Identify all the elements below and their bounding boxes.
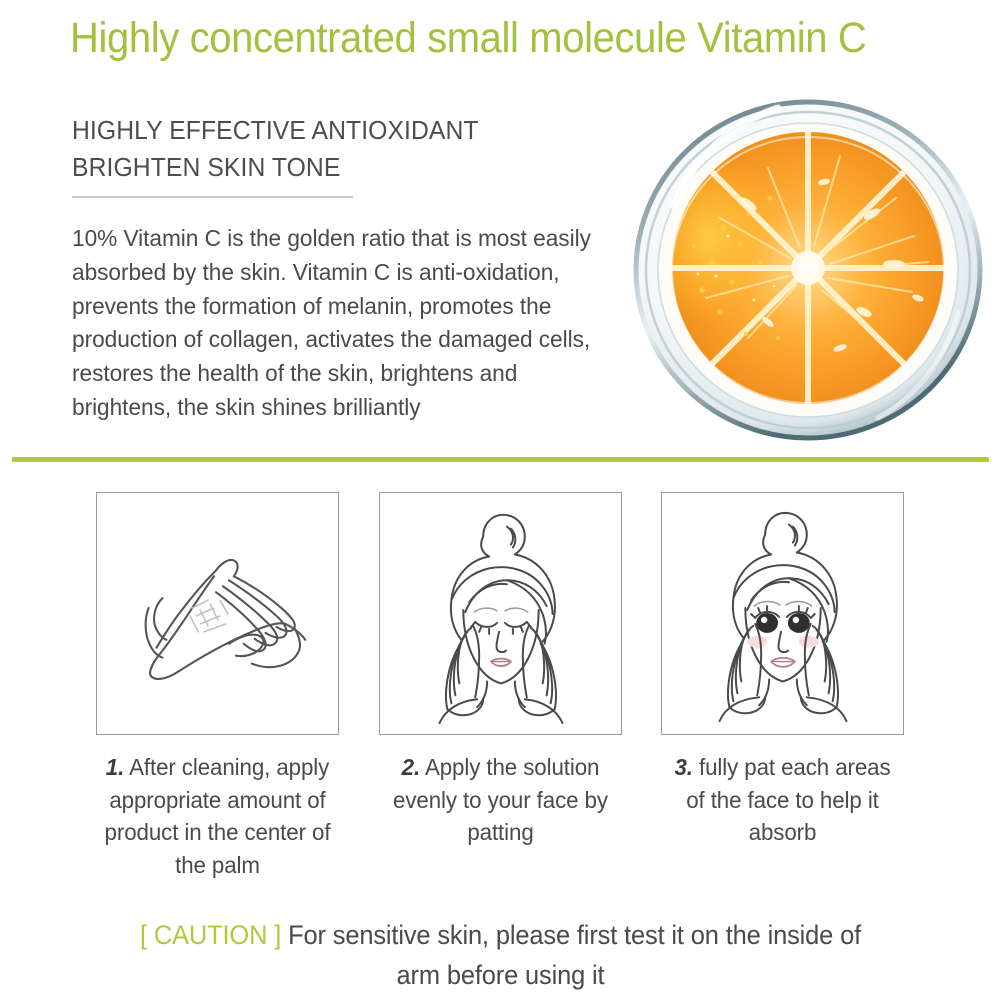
orange-slice-image [628, 86, 988, 446]
step-2-caption: 2. Apply the solution evenly to your fac… [383, 751, 619, 849]
subheading-divider [72, 196, 353, 198]
step-2-text: Apply the solution evenly to your face b… [393, 754, 608, 845]
step-3-illustration-box [661, 492, 904, 735]
step-1-text: After cleaning, apply appropriate amount… [105, 754, 331, 878]
subheading-line-2: BRIGHTEN SKIN TONE [72, 149, 566, 186]
step-2-number: 2. [402, 754, 420, 780]
step-3: 3. fully pat each areas of the face to h… [661, 492, 904, 849]
section-divider [12, 457, 989, 462]
step-1: 1. After cleaning, apply appropriate amo… [96, 492, 339, 881]
step-1-number: 1. [106, 754, 124, 780]
step-1-caption: 1. After cleaning, apply appropriate amo… [100, 751, 336, 881]
step-1-illustration-box [96, 492, 339, 735]
caution-note: [ CAUTION ] For sensitive skin, please f… [20, 915, 981, 995]
product-detail-page: Highly concentrated small molecule Vitam… [0, 0, 1001, 1001]
woman-patting-face-eyes-open-icon [662, 493, 903, 734]
caution-tag: [ CAUTION ] [140, 920, 281, 950]
woman-patting-face-eyes-closed-icon [380, 493, 621, 734]
step-2: 2. Apply the solution evenly to your fac… [379, 492, 622, 849]
step-3-number: 3. [674, 754, 692, 780]
page-title: Highly concentrated small molecule Vitam… [70, 12, 888, 64]
step-3-text: fully pat each areas of the face to help… [686, 754, 890, 845]
step-3-caption: 3. fully pat each areas of the face to h… [665, 751, 901, 849]
step-2-illustration-box [379, 492, 622, 735]
intro-body-text: 10% Vitamin C is the golden ratio that i… [72, 222, 620, 425]
caution-line-2: arm before using it [20, 955, 981, 995]
caution-line-1: For sensitive skin, please first test it… [288, 920, 861, 950]
hands-rubbing-icon [97, 493, 338, 734]
section-subheading: HIGHLY EFFECTIVE ANTIOXIDANT BRIGHTEN SK… [72, 112, 566, 186]
subheading-line-1: HIGHLY EFFECTIVE ANTIOXIDANT [72, 112, 566, 149]
